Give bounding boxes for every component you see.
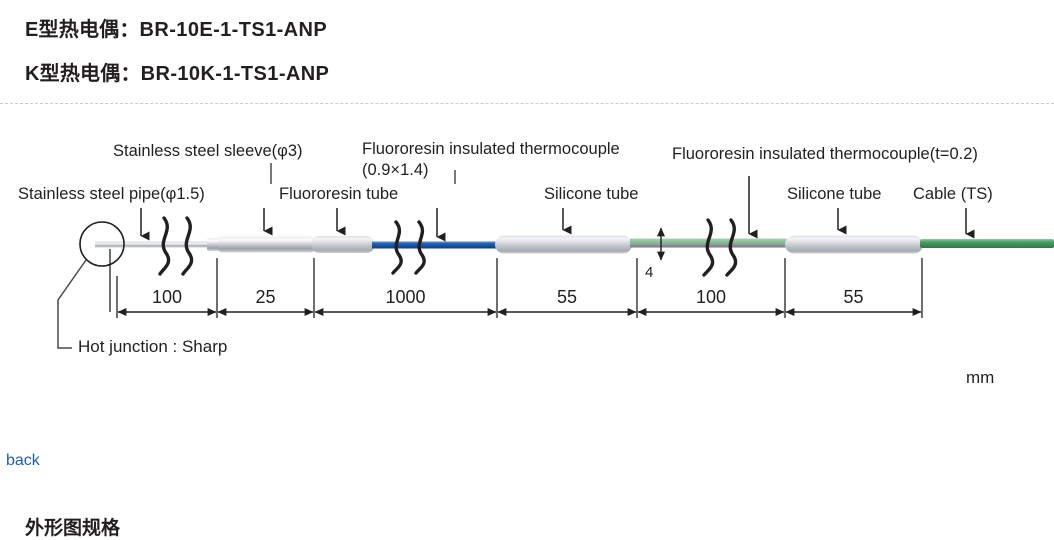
probe-assembly xyxy=(95,236,1054,254)
hot-junction-leader xyxy=(58,260,86,348)
stainless-steel-pipe-segment xyxy=(95,242,212,248)
back-link[interactable]: back xyxy=(6,452,40,470)
dimension-value-100-b: 100 xyxy=(637,287,785,308)
bottom-section-heading: 外形图规格 xyxy=(25,513,120,540)
fluororesin-tube-segment xyxy=(312,236,374,253)
label-fluororesin-insulated-thermocouple-09x14-line1: Fluororesin insulated thermocouple xyxy=(362,140,620,159)
dimension-value-100-a: 100 xyxy=(117,287,217,308)
silicone-tube-segment-1 xyxy=(495,236,632,254)
dimension-value-55-b: 55 xyxy=(785,287,922,308)
dimension-value-25: 25 xyxy=(217,287,314,308)
label-fluororesin-insulated-thermocouple-09x14-line2: (0.9×1.4) xyxy=(362,161,429,180)
label-silicone-tube-1: Silicone tube xyxy=(544,185,638,204)
dimension-value-1000: 1000 xyxy=(314,287,497,308)
cable-ts-segment xyxy=(920,239,1054,248)
label-stainless-steel-pipe: Stainless steel pipe(φ1.5) xyxy=(18,185,205,204)
label-stainless-steel-sleeve: Stainless steel sleeve(φ3) xyxy=(113,142,303,161)
silicone-tube-segment-2 xyxy=(785,236,923,254)
diagram-svg xyxy=(0,0,1054,420)
label-hot-junction: Hot junction : Sharp xyxy=(78,337,227,357)
label-fluororesin-insulated-thermocouple-t02: Fluororesin insulated thermocouple(t=0.2… xyxy=(672,145,978,164)
hot-junction-callout xyxy=(58,222,124,348)
label-cable-ts: Cable (TS) xyxy=(913,185,993,204)
label-silicone-tube-2: Silicone tube xyxy=(787,185,881,204)
dimension-value-55-a: 55 xyxy=(497,287,637,308)
stainless-steel-sleeve-segment xyxy=(219,237,314,253)
pipe-collar xyxy=(207,238,221,251)
dimension-value-thickness-4: 4 xyxy=(645,264,653,281)
probe-dimension-diagram: Stainless steel pipe(φ1.5) Stainless ste… xyxy=(0,0,1054,420)
page-root: E型热电偶：BR-10E-1-TS1-ANP K型热电偶：BR-10K-1-TS… xyxy=(0,0,1054,526)
fluororesin-insulated-thermocouple-09x14-segment-a xyxy=(372,242,497,249)
label-unit-mm: mm xyxy=(966,368,994,388)
label-fluororesin-tube: Fluororesin tube xyxy=(279,185,398,204)
